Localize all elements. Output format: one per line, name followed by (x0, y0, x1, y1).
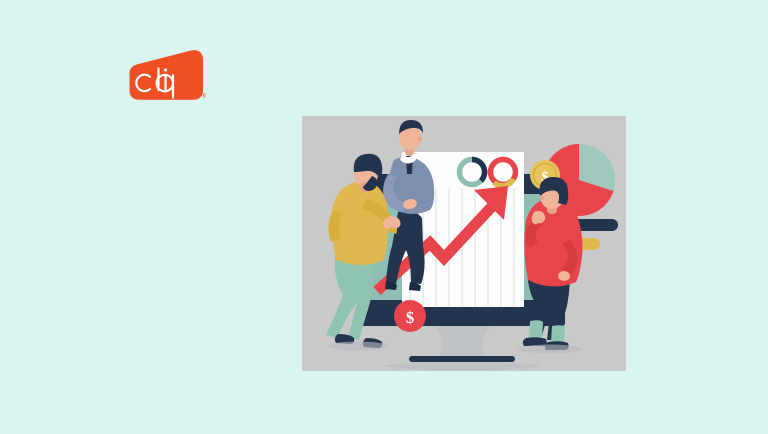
person-right-shadow (518, 345, 582, 354)
registered-trademark-mark: ® (202, 94, 206, 100)
red-coin: $ (394, 300, 426, 332)
monitor-base (409, 356, 515, 362)
page-root: ® (0, 0, 768, 434)
svg-text:$: $ (406, 308, 415, 327)
monitor-shadow (384, 362, 540, 370)
clip-logo-svg (127, 49, 205, 101)
clip-logo[interactable]: ® (127, 49, 205, 101)
person-left-shadow (328, 342, 388, 351)
business-growth-analytics-illustration: $ $ (302, 116, 626, 371)
illustration-svg: $ $ (302, 116, 626, 371)
logo-i-dot (164, 68, 167, 71)
